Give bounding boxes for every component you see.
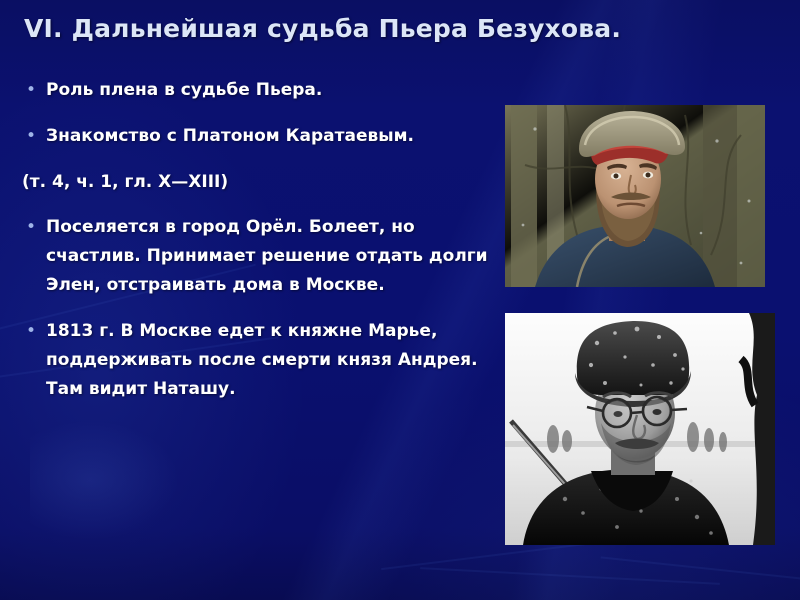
list-item-label: Роль плена в судьбе Пьера. xyxy=(46,76,495,105)
bullet-dot-icon: • xyxy=(22,76,46,105)
slide-title: VI. Дальнейшая судьба Пьера Безухова. xyxy=(24,14,780,43)
pierre-bezukhov-photo xyxy=(505,313,775,545)
list-item: • Роль плена в судьбе Пьера. xyxy=(0,76,495,105)
bullet-dot-icon: • xyxy=(22,317,46,346)
list-item: • Поселяется в город Орёл. Болеет, но сч… xyxy=(0,213,495,300)
photo-graphic xyxy=(505,105,765,287)
photo-graphic xyxy=(505,313,775,545)
list-item-label: 1813 г. В Москве едет к княжне Марье, по… xyxy=(46,317,495,404)
background-watermark xyxy=(30,420,180,540)
background-stroke xyxy=(601,556,800,585)
presentation-slide: VI. Дальнейшая судьба Пьера Безухова. • … xyxy=(0,0,800,600)
source-reference: (т. 4, ч. 1, гл. X—XIII) xyxy=(0,168,495,197)
list-item-label: Знакомство с Платоном Каратаевым. xyxy=(46,122,495,151)
list-item-label: Поселяется в город Орёл. Болеет, но счас… xyxy=(46,213,495,300)
list-item: • Знакомство с Платоном Каратаевым. xyxy=(0,122,495,151)
bullet-dot-icon: • xyxy=(22,122,46,151)
platon-karataev-photo xyxy=(505,105,765,287)
list-item: • 1813 г. В Москве едет к княжне Марье, … xyxy=(0,317,495,404)
background-stroke xyxy=(420,567,720,585)
slide-body: • Роль плена в судьбе Пьера. • Знакомств… xyxy=(0,76,495,404)
bullet-dot-icon: • xyxy=(22,213,46,242)
